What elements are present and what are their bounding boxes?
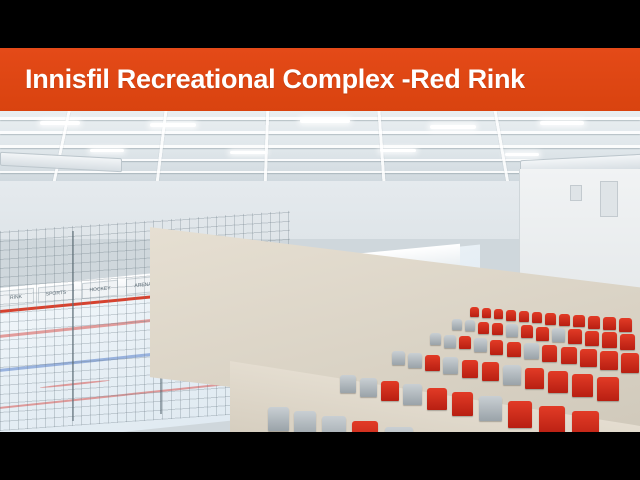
seat: [490, 340, 503, 355]
seat: [552, 328, 565, 342]
seat: [506, 310, 516, 321]
seat: [597, 377, 619, 401]
ceiling-light: [40, 121, 80, 125]
letterbox-bottom: [0, 432, 640, 480]
seat: [521, 325, 533, 338]
seat: [532, 312, 542, 323]
ceiling-light: [230, 151, 266, 154]
seat: [539, 406, 565, 432]
seat: [470, 307, 479, 317]
seat: [508, 401, 532, 428]
seat: [492, 323, 503, 335]
seat: [427, 388, 447, 410]
letterbox-top: [0, 0, 640, 48]
wall-vent: [570, 185, 582, 201]
seat: [585, 331, 599, 346]
seat: [443, 357, 458, 374]
seat: [459, 336, 471, 349]
seat: [444, 335, 456, 348]
seat: [465, 320, 475, 331]
seat: [462, 360, 478, 378]
seat: [503, 365, 521, 385]
ceiling-beam: [0, 131, 640, 134]
seat: [568, 329, 582, 344]
seat: [482, 362, 499, 381]
seat: [561, 347, 577, 364]
seat: [542, 345, 557, 362]
seat: [559, 314, 570, 326]
seat: [403, 384, 422, 405]
seat: [268, 407, 289, 431]
seat: [506, 324, 518, 337]
video-frame: Innisfil Recreational Complex -Red Rink: [0, 0, 640, 480]
seat: [294, 411, 316, 432]
seat: [621, 353, 639, 373]
seat: [392, 351, 405, 365]
seat: [322, 416, 346, 432]
seat: [620, 334, 635, 350]
seat: [474, 338, 487, 352]
seat: [519, 311, 529, 322]
seat: [572, 411, 599, 432]
ceiling-beam: [0, 145, 640, 148]
seat: [602, 332, 617, 348]
seat: [478, 322, 489, 334]
ceiling-light: [300, 119, 350, 123]
title-banner: Innisfil Recreational Complex -Red Rink: [0, 48, 640, 111]
seat: [580, 349, 597, 367]
seat: [619, 318, 632, 332]
seat: [482, 308, 491, 318]
seat: [548, 371, 568, 393]
seat: [381, 381, 399, 401]
net-post: [72, 231, 74, 421]
seat: [525, 368, 544, 389]
ceiling-light: [150, 123, 196, 127]
seat: [430, 333, 441, 345]
seat: [408, 353, 422, 368]
seat: [352, 421, 378, 432]
seat: [600, 351, 618, 370]
seat: [524, 343, 539, 359]
faceoff-circle: [40, 379, 110, 388]
ceiling-light: [380, 149, 416, 152]
board-ad: HOCKEY: [82, 280, 118, 299]
arena-photo: RINK SPORTS HOCKEY ARENA TEAM CLUB ICE: [0, 111, 640, 432]
board-ad: RINK: [0, 288, 34, 307]
seat: [536, 327, 549, 341]
seat: [588, 316, 600, 329]
seat: [603, 317, 616, 330]
seat: [452, 392, 473, 416]
seat: [360, 378, 377, 397]
seat: [425, 355, 440, 371]
page-title: Innisfil Recreational Complex -Red Rink: [0, 66, 525, 93]
ceiling-light: [90, 149, 124, 152]
seat: [479, 396, 502, 421]
board-ad: SPORTS: [38, 284, 74, 303]
ceiling-light: [505, 153, 539, 156]
seat: [573, 315, 585, 327]
seat: [340, 375, 356, 393]
seat: [452, 319, 462, 330]
seat: [507, 342, 521, 357]
ceiling-light: [540, 121, 584, 125]
seat: [545, 313, 556, 325]
seat: [494, 309, 503, 319]
seat: [572, 374, 593, 397]
ceiling-light: [430, 125, 476, 129]
wall-door: [600, 181, 618, 217]
